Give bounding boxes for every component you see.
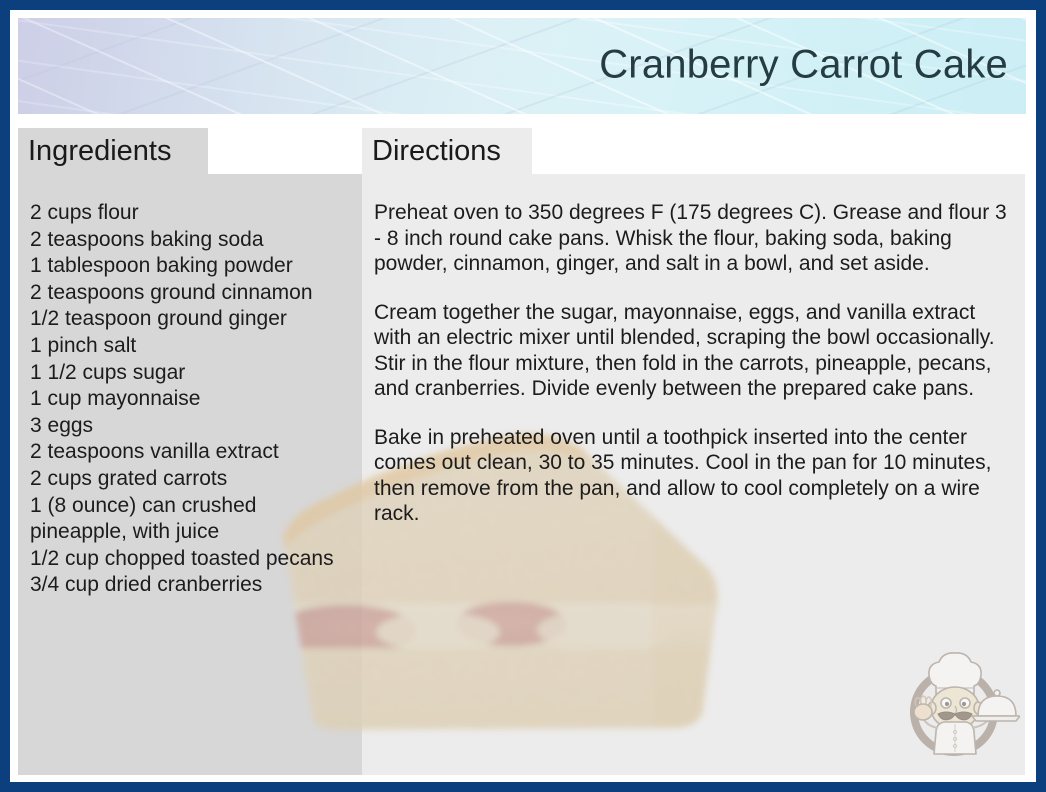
recipe-card-frame: Cranberry Carrot Cake Ingredients 2 cups…: [0, 0, 1046, 792]
list-item: 1 1/2 cups sugar: [30, 360, 355, 387]
ingredients-panel: 2 cups flour 2 teaspoons baking soda 1 t…: [18, 174, 363, 775]
tab-ingredients[interactable]: Ingredients: [18, 128, 208, 174]
list-item: 1 (8 ounce) can crushed pineapple, with …: [30, 493, 355, 546]
direction-step: Cream together the sugar, mayonnaise, eg…: [374, 300, 1011, 402]
list-item: 1 pinch salt: [30, 333, 355, 360]
list-item: 1 tablespoon baking powder: [30, 253, 355, 280]
directions-panel: Preheat oven to 350 degrees F (175 degre…: [362, 174, 1025, 775]
list-item: 1/2 teaspoon ground ginger: [30, 306, 355, 333]
direction-step: Preheat oven to 350 degrees F (175 degre…: [374, 200, 1011, 277]
page-title: Cranberry Carrot Cake: [599, 43, 1008, 88]
ingredients-list: 2 cups flour 2 teaspoons baking soda 1 t…: [18, 174, 363, 599]
list-item: 2 teaspoons ground cinnamon: [30, 280, 355, 307]
list-item: 2 teaspoons vanilla extract: [30, 439, 355, 466]
list-item: 2 teaspoons baking soda: [30, 227, 355, 254]
list-item: 3 eggs: [30, 413, 355, 440]
list-item: 3/4 cup dried cranberries: [30, 572, 355, 599]
direction-step: Bake in preheated oven until a toothpick…: [374, 425, 1011, 527]
tab-directions[interactable]: Directions: [362, 128, 532, 174]
header-banner: Cranberry Carrot Cake: [18, 18, 1026, 114]
list-item: 1 cup mayonnaise: [30, 386, 355, 413]
directions-text: Preheat oven to 350 degrees F (175 degre…: [362, 174, 1025, 527]
list-item: 2 cups grated carrots: [30, 466, 355, 493]
list-item: 1/2 cup chopped toasted pecans: [30, 546, 355, 573]
list-item: 2 cups flour: [30, 200, 355, 227]
recipe-page: Cranberry Carrot Cake Ingredients 2 cups…: [10, 10, 1036, 782]
